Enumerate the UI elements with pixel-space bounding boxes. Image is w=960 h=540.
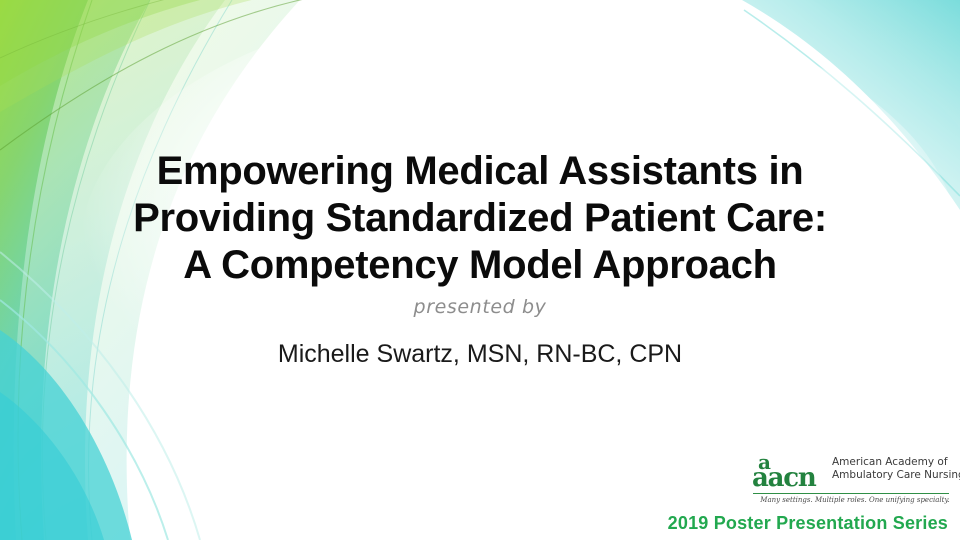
aacn-logo: a aacn American Academy of Ambulatory Ca… — [752, 450, 952, 508]
presenter-name: Michelle Swartz, MSN, RN-BC, CPN — [0, 340, 960, 369]
aacn-tagline: Many settings. Multiple roles. One unify… — [758, 496, 952, 504]
title-line-1: Empowering Medical Assistants in — [0, 148, 960, 195]
svg-text:aacn: aacn — [752, 463, 817, 490]
logo-divider — [753, 493, 949, 494]
presented-by-label: presented by — [0, 296, 960, 318]
aacn-organization-line-2: Ambulatory Care Nursing — [832, 469, 960, 482]
aacn-logo-mark: a aacn — [752, 450, 828, 490]
series-banner: 2019 Poster Presentation Series — [0, 513, 948, 534]
title-line-2: Providing Standardized Patient Care: — [0, 195, 960, 242]
title-line-3: A Competency Model Approach — [0, 242, 960, 289]
page-title: Empowering Medical Assistants in Providi… — [0, 148, 960, 289]
presentation-title-slide: Empowering Medical Assistants in Providi… — [0, 0, 960, 540]
aacn-organization-name: American Academy of Ambulatory Care Nurs… — [832, 456, 960, 481]
aacn-organization-line-1: American Academy of — [832, 456, 960, 469]
